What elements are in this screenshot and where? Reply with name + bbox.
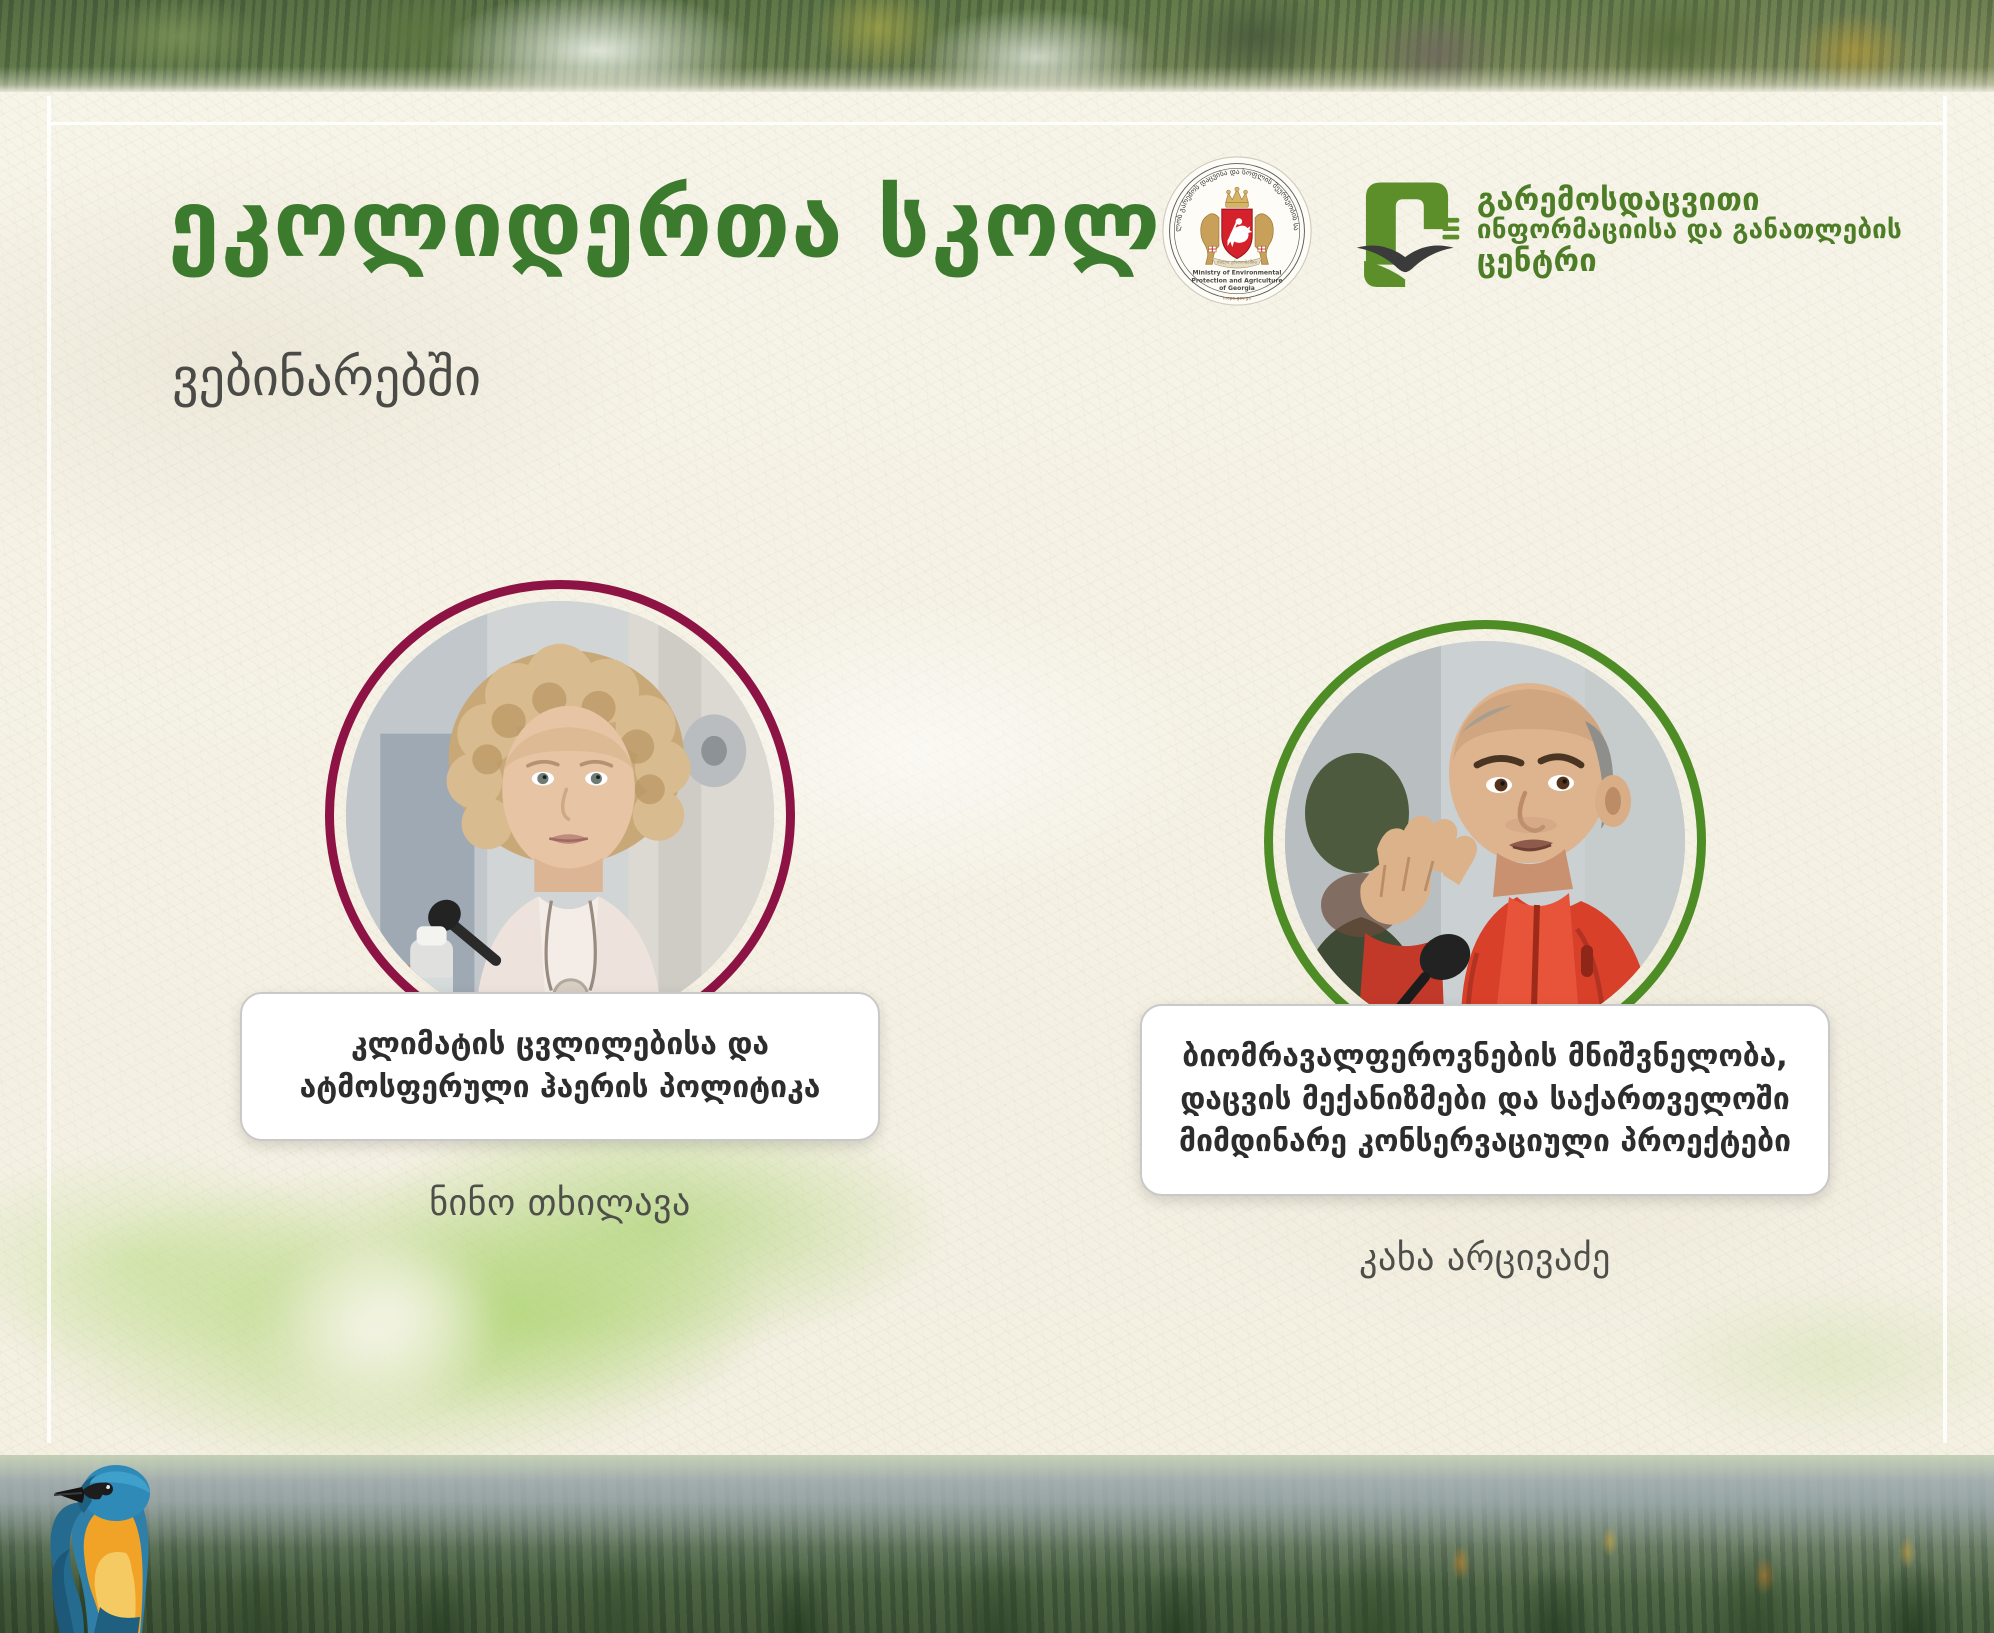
- svg-text:of Georgia: of Georgia: [1219, 285, 1255, 292]
- eiec-text-line2: ინფორმაციისა და განათლების: [1477, 217, 1902, 245]
- portrait-wrap-left: [240, 580, 880, 1050]
- speaker-topic-left: კლიმატის ცვლილებისა და ატმოსფერული ჰაერი…: [240, 992, 880, 1141]
- eiec-book-icon: [1351, 175, 1463, 287]
- top-forest-banner: [0, 0, 1994, 92]
- svg-text:Ministry of Environmental: Ministry of Environmental: [1192, 270, 1281, 277]
- eiec-text-line3: ცენტრი: [1477, 245, 1902, 278]
- eiec-logo: გარემოსდაცვითი ინფორმაციისა და განათლები…: [1351, 175, 1902, 287]
- speaker-card-left: კლიმატის ცვლილებისა და ატმოსფერული ჰაერი…: [240, 580, 880, 1224]
- speaker-name-right: კახა არცივაძე: [1140, 1238, 1830, 1279]
- flycatcher-bird-icon: [42, 1457, 232, 1633]
- ministry-seal-icon: საქართველოს გარემოს დაცვისა და სოფლის მე…: [1161, 155, 1313, 307]
- page-subtitle: ვებინარებში: [172, 352, 481, 404]
- frame-line-left: [47, 96, 51, 1443]
- speaker-photo-nino-tkhilava: [346, 601, 774, 1029]
- portrait-ring-left: [325, 580, 795, 1050]
- poster: ეკოლიდერთა სკოლა ვებინარებში საქართველოს…: [0, 0, 1994, 1633]
- frame-line-right: [1943, 96, 1947, 1443]
- portrait-wrap-right: [1140, 620, 1830, 1062]
- eiec-logo-text: გარემოსდაცვითი ინფორმაციისა და განათლები…: [1477, 184, 1902, 277]
- speaker-topic-right: ბიომრავალფეროვნების მნიშვნელობა, დაცვის …: [1140, 1004, 1830, 1196]
- speaker-card-right: ბიომრავალფეროვნების მნიშვნელობა, დაცვის …: [1140, 620, 1830, 1279]
- logo-group: საქართველოს გარემოს დაცვისა და სოფლის მე…: [1161, 155, 1902, 307]
- top-banner-fade: [0, 0, 1994, 92]
- page-title: ეკოლიდერთა სკოლა: [168, 178, 1214, 271]
- bottom-banner-top-fade: [0, 1455, 1994, 1481]
- eiec-text-line1: გარემოსდაცვითი: [1477, 184, 1902, 217]
- svg-text:Protection and Agriculture: Protection and Agriculture: [1191, 277, 1282, 284]
- portrait-ring-right: [1264, 620, 1706, 1062]
- frame-line-top: [47, 122, 1947, 125]
- svg-text:mepa.gov.ge: mepa.gov.ge: [1223, 296, 1252, 301]
- bottom-banner-autumn-accents: [1374, 1495, 1994, 1625]
- speaker-photo-kakha-artsivadze: [1285, 641, 1685, 1041]
- bottom-forest-banner: [0, 1455, 1994, 1633]
- speaker-name-left: ნინო თხილავა: [240, 1183, 880, 1224]
